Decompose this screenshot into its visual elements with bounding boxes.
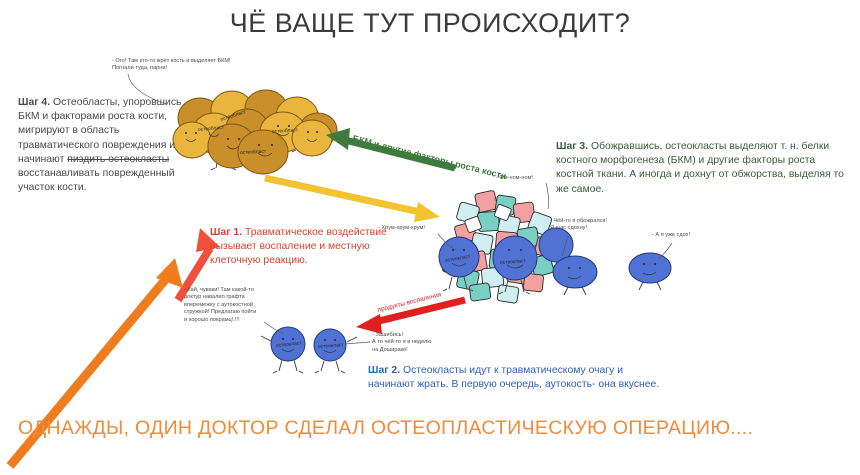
arrow-green: БКМ и другие факторы роста кости: [326, 128, 507, 181]
step-2-text: Шаг 2. Остеокласты идут к травматическом…: [368, 364, 668, 392]
step-1-label: Шаг 1.: [210, 227, 242, 238]
step-1-text: Шаг 1. Травматическое воздействие вызыва…: [210, 226, 388, 269]
step-4-label: Шаг 4.: [18, 97, 50, 108]
bottom-caption: ОДНАЖДЫ, ОДИН ДОКТОР СДЕЛАЛ ОСТЕОПЛАСТИЧ…: [18, 417, 753, 440]
arrow-yellow: [265, 178, 440, 222]
bone-graft-pile: остеокласт остеокласт: [439, 190, 573, 303]
step-2-body: Остеокласты идут к травматическому очагу…: [368, 365, 659, 390]
dying-osteoclasts-right: [553, 253, 671, 295]
step-2-label: Шаг 2.: [368, 365, 400, 376]
osteoblast-cluster: остеобласт остеобласт остеобласт остеобл…: [173, 90, 337, 174]
arrow-green-label: БКМ и другие факторы роста кости: [352, 133, 508, 181]
speech-bubble-overate: - Чёй-то я обожрался! Я щас сдохну!: [550, 218, 645, 233]
speech-bubble-graft-call: - Кай, чуваки! Там какой-то доктур навал…: [184, 287, 294, 324]
step-4-body-struck: пиздить остеокласты: [67, 154, 169, 165]
step-4-body-after: восстанавливать поврежденный участок кос…: [18, 168, 175, 193]
step-3-text: Шаг 3. Обожравшись, остеокласты выделяют…: [556, 140, 848, 197]
speech-bubble-died: - А я уже сдох!: [652, 232, 722, 239]
step-4-text: Шаг 4. Остеобласты, упоровшись БКМ и фак…: [18, 96, 190, 195]
speech-bubble-nom: - Ом-ном-ном!: [496, 175, 576, 182]
speech-bubble-hrum: - Хрум-хрум-хрум!: [378, 225, 458, 232]
speech-bubble-zashibis: - Зашибись! А то чёй-то я в неделю на До…: [372, 332, 467, 354]
speech-bubble-osteoblasts: - Ого! Там кто-то жрёт кость и выделяет …: [112, 58, 312, 73]
walking-osteoclasts-bottom: остеокласт остеокласт: [261, 327, 357, 373]
infographic-canvas: ЧЁ ВАЩЕ ТУТ ПРОИСХОДИТ?: [0, 0, 860, 475]
step-3-body: Обожравшись, остеокласты выделяют т. н. …: [556, 141, 844, 195]
arrow-red: продукты воспаления: [356, 291, 465, 334]
step-3-label: Шаг 3.: [556, 141, 588, 152]
